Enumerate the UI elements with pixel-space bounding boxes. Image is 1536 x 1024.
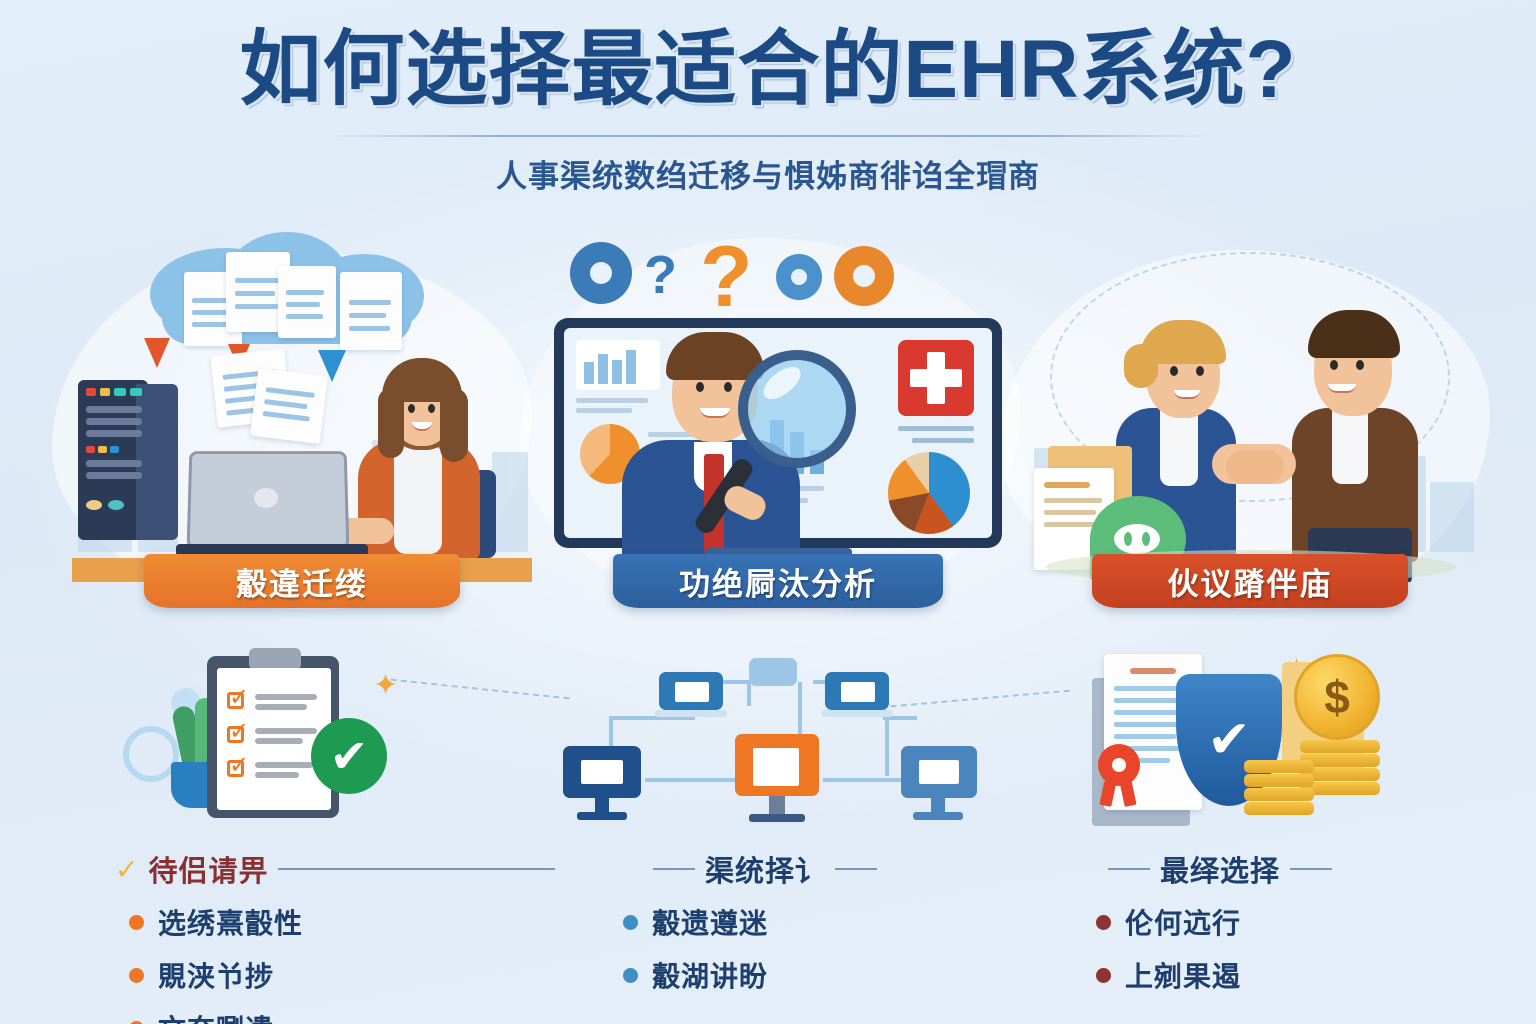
list-item: 上剜果遏 (1096, 955, 1440, 995)
list-item: 觳湖讲盼 (623, 955, 985, 995)
list-item-label: 文夽唰遣 (158, 1008, 274, 1024)
arrow-down-icon (144, 338, 170, 368)
section-heading-row: ✓ 待侣请畀 (115, 848, 555, 890)
panel-vendor-partnership: 伙议蹐伴庙 (1020, 232, 1480, 632)
section-heading: 渠统择讠 (705, 848, 825, 890)
section-list: 选绣熹瞉性 覞浃兯捗 文夽唰遣 (115, 902, 555, 1024)
orange-check-icon: ✓ (229, 754, 249, 778)
title-divider (328, 135, 1208, 137)
document-icon (278, 266, 336, 338)
bullet-dot (129, 1021, 144, 1024)
network-link (823, 778, 909, 782)
list-item: 伦何迒行 (1096, 902, 1440, 942)
data-migration-illustration (72, 232, 532, 582)
list-item-label: 覞浃兯捗 (158, 955, 274, 995)
document-icon (250, 368, 328, 444)
list-item-label: 伦何迒行 (1125, 902, 1241, 942)
heading-rule (1108, 868, 1150, 870)
panel-banner-requirements: 功绝屙汰分析 (613, 554, 943, 608)
panel-data-migration: 觳違迁缕 (72, 232, 532, 632)
network-link (747, 684, 751, 706)
section-heading: 最绎选择 (1160, 848, 1280, 890)
sparkle-icon: ✦ (373, 668, 398, 703)
gear-center (590, 262, 612, 284)
orange-check-icon: ✓ (229, 720, 249, 744)
heading-rule (653, 868, 695, 870)
panel-banner-data-migration: 觳違迁缕 (144, 554, 460, 608)
network-node (749, 658, 797, 686)
page-title: 如何选择最适合的EHR系统? (0, 26, 1536, 115)
gear-center (791, 269, 807, 285)
gear-center (853, 265, 875, 287)
network-link (645, 778, 737, 782)
bottom-section-checklist: ✓ ✓ ✓ ✔ ✦ ✓ 待侣请畀 选绣熹瞉性 覞浃 (115, 640, 555, 1024)
question-mark-icon: ? (644, 244, 677, 306)
heading-rule (1290, 868, 1332, 870)
list-item-label: 觳湖讲盼 (652, 955, 768, 995)
bottom-sections: ✓ ✓ ✓ ✔ ✦ ✓ 待侣请畀 选绣熹瞉性 覞浃 (0, 640, 1536, 1024)
green-check-icon: ✔ (311, 718, 387, 794)
bullet-dot (129, 915, 144, 930)
section-heading-row: 渠统择讠 (545, 848, 985, 890)
bottom-section-final-choice: ✔ ✦ $ 最绎选择 伦何迒行 (1000, 640, 1440, 1008)
list-item: 文夽唰遣 (129, 1008, 555, 1024)
panel-requirements-analysis: ? ? (548, 232, 1008, 632)
document-icon (340, 272, 402, 350)
list-item-label: 上剜果遏 (1125, 955, 1241, 995)
question-mark-icon: ? (700, 232, 753, 327)
heading-rule (278, 868, 555, 870)
pie-chart-icon (888, 452, 970, 534)
network-illustration (545, 640, 985, 840)
list-item-label: 觳遗遵迷 (652, 902, 768, 942)
heading-rule (835, 868, 877, 870)
network-link (885, 718, 889, 776)
bullet-dot (623, 915, 638, 930)
bullet-dot (1096, 968, 1111, 983)
bullet-dot (623, 968, 638, 983)
list-item: 觳遗遵迷 (623, 902, 985, 942)
panel-banner-partnership: 伙议蹐伴庙 (1092, 554, 1408, 608)
medical-cross-icon (898, 340, 974, 416)
section-heading: 待侣请畀 (148, 848, 268, 890)
clipboard-clip (249, 648, 301, 670)
yellow-check-icon: ✓ (115, 853, 138, 886)
list-item: 覞浃兯捗 (129, 955, 555, 995)
section-list: 伦何迒行 上剜果遏 (1000, 902, 1440, 995)
vendor-partnership-illustration (1020, 232, 1480, 582)
list-item: 选绣熹瞉性 (129, 902, 555, 942)
orange-check-icon: ✓ (229, 686, 249, 710)
certificate-shield-coins-illustration: ✔ ✦ $ (1000, 640, 1440, 840)
requirements-analysis-illustration: ? ? (548, 232, 1008, 582)
dollar-coin-icon: $ (1294, 654, 1380, 740)
bullet-dot (1096, 915, 1111, 930)
section-list: 觳遗遵迷 觳湖讲盼 (545, 902, 985, 995)
section-heading-row: 最绎选择 (1000, 848, 1440, 890)
infographic-header: 如何选择最适合的EHR系统? 人事渠统数绉迁移与惧姊商徘诌全瑁商 (0, 26, 1536, 196)
bullet-dot (129, 968, 144, 983)
checklist-illustration: ✓ ✓ ✓ ✔ ✦ (115, 640, 555, 840)
list-item-label: 选绣熹瞉性 (158, 902, 303, 942)
page-subtitle: 人事渠统数绉迁移与惧姊商徘诌全瑁商 (0, 151, 1536, 196)
bottom-section-network: 渠统择讠 觳遗遵迷 觳湖讲盼 (545, 640, 985, 1008)
